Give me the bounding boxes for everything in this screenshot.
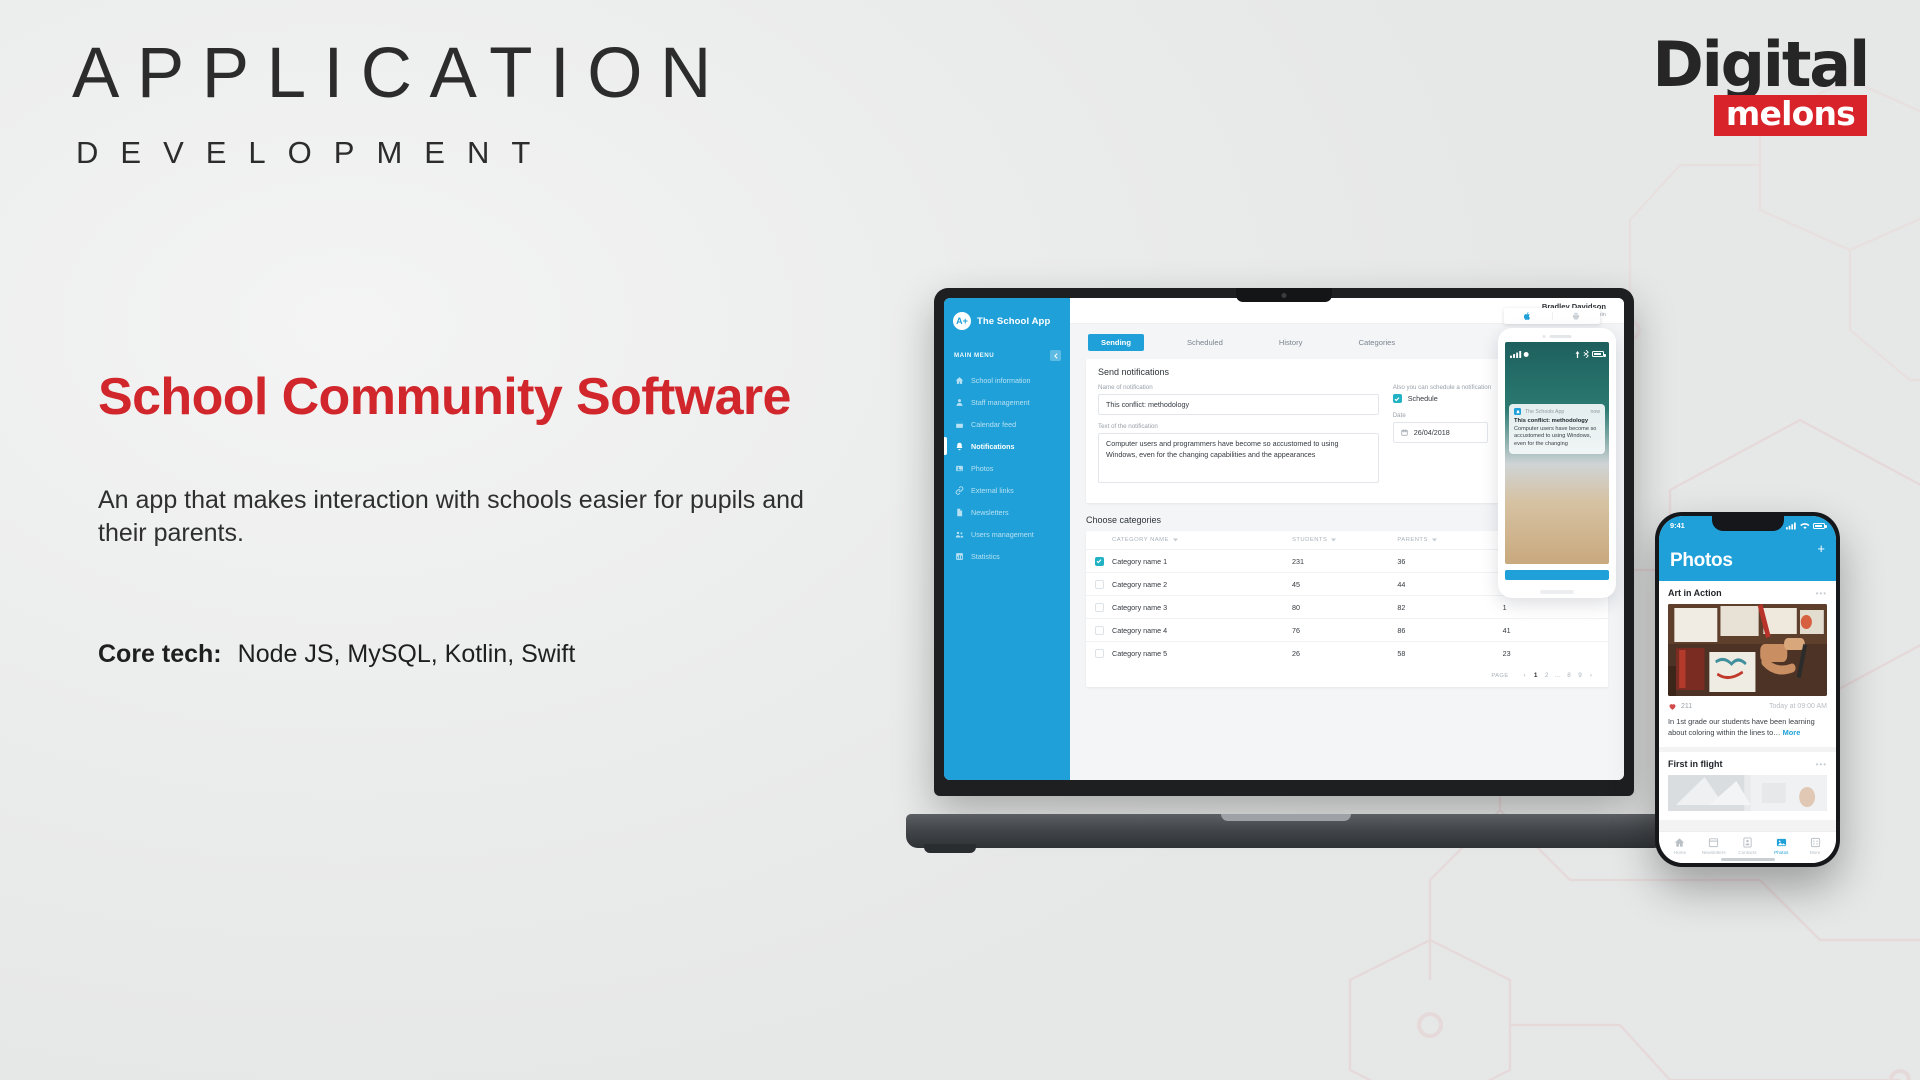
nav-item-contacts[interactable]: Contacts <box>1731 837 1765 855</box>
preview-notification-time: now <box>1590 409 1600 415</box>
column-label: CATEGORY NAME <box>1112 537 1169 543</box>
contact-icon <box>1742 837 1753 848</box>
like-count-value: 211 <box>1681 703 1692 710</box>
sidebar-item-statistics[interactable]: Statistics <box>944 545 1070 567</box>
sort-caret-icon <box>1173 538 1178 542</box>
date-input[interactable]: 26/04/2018 <box>1393 422 1489 443</box>
nav-label: Home <box>1674 850 1686 855</box>
cell-parents: 44 <box>1397 580 1502 589</box>
app-icon <box>1514 408 1521 415</box>
pagination-prev[interactable]: ‹ <box>1522 672 1528 679</box>
cell-category-name: Category name 4 <box>1112 626 1292 635</box>
sidebar-brand-label: The School App <box>977 316 1050 327</box>
post-menu-icon[interactable]: ••• <box>1816 589 1827 598</box>
preview-notification-card[interactable]: The Schools App now This conflict: metho… <box>1509 404 1605 454</box>
preview-status-bar <box>1505 342 1609 366</box>
text-of-notification-textarea[interactable]: Computer users and programmers have beco… <box>1098 433 1379 483</box>
row-checkbox[interactable] <box>1086 557 1112 566</box>
tab-categories[interactable]: Categories <box>1345 334 1408 351</box>
table-row[interactable]: Category name 5 26 58 23 <box>1086 641 1608 664</box>
column-label: STUDENTS <box>1292 537 1327 543</box>
core-tech-value: Node JS, MySQL, Kotlin, Swift <box>238 640 576 668</box>
date-label: Date <box>1393 412 1489 419</box>
date-value: 26/04/2018 <box>1414 428 1450 437</box>
table-row[interactable]: Category name 3 80 82 1 <box>1086 595 1608 618</box>
phone-screen: 9:41 + Photos Art in Action ••• <box>1659 516 1836 863</box>
name-of-notification-input[interactable]: This conflict: methodology <box>1098 394 1379 415</box>
core-tech-line: Core tech:Node JS, MySQL, Kotlin, Swift <box>98 640 858 669</box>
post-card[interactable]: Art in Action ••• <box>1659 581 1836 747</box>
sidebar-item-label: External links <box>971 486 1014 495</box>
cell-category-name: Category name 5 <box>1112 649 1292 658</box>
calendar-icon <box>1401 429 1408 436</box>
checkbox-unchecked-icon[interactable] <box>1095 603 1104 612</box>
cell-students: 80 <box>1292 603 1397 612</box>
laptop-notch <box>1236 288 1332 302</box>
cell-category-name: Category name 1 <box>1112 557 1292 566</box>
phone-notch <box>1712 516 1784 531</box>
cellular-icon <box>1786 522 1797 530</box>
cell-students: 45 <box>1292 580 1397 589</box>
pagination-page-2[interactable]: 2 <box>1544 672 1550 679</box>
sidebar-item-newsletters[interactable]: Newsletters <box>944 501 1070 523</box>
checkbox-checked-icon[interactable] <box>1095 557 1104 566</box>
pagination-page-1[interactable]: 1 <box>1533 672 1539 679</box>
sidebar-item-label: Calendar feed <box>971 420 1016 429</box>
bluetooth-icon <box>1583 350 1589 358</box>
post-header: Art in Action ••• <box>1668 588 1827 598</box>
heart-icon <box>1668 702 1677 711</box>
sidebar-item-school-information[interactable]: School information <box>944 369 1070 391</box>
checkbox-checked-icon[interactable] <box>1393 394 1402 403</box>
laptop-foot <box>924 844 976 853</box>
notification-preview: The Schools App now This conflict: metho… <box>1498 328 1616 598</box>
laptop-screen: A+ The School App MAIN MENU School infor… <box>944 298 1624 780</box>
row-checkbox[interactable] <box>1086 603 1112 612</box>
row-checkbox[interactable] <box>1086 626 1112 635</box>
cell-parents: 36 <box>1397 557 1502 566</box>
post-title: Art in Action <box>1668 588 1722 598</box>
bell-icon <box>955 442 964 451</box>
post-title: First in flight <box>1668 759 1723 769</box>
sidebar-item-staff-management[interactable]: Staff management <box>944 391 1070 413</box>
status-time: 9:41 <box>1670 521 1685 530</box>
calendar-icon <box>955 420 964 429</box>
laptop-base <box>906 814 1666 848</box>
project-copy: School Community Software An app that ma… <box>98 368 858 669</box>
sidebar-collapse-icon[interactable] <box>1050 350 1061 361</box>
photo-icon <box>955 464 964 473</box>
table-row[interactable]: Category name 4 76 86 41 <box>1086 618 1608 641</box>
cell-students: 231 <box>1292 557 1397 566</box>
preview-phone-screen: The Schools App now This conflict: metho… <box>1505 342 1609 564</box>
logo-word-melons: melons <box>1726 97 1855 132</box>
pagination-page-9[interactable]: 9 <box>1577 672 1583 679</box>
headline-secondary: DEVELOPMENT <box>76 135 972 171</box>
phone-frame: 9:41 + Photos Art in Action ••• <box>1655 512 1840 867</box>
preview-phone-body: The Schools App now This conflict: metho… <box>1498 328 1616 598</box>
post-header: First in flight ••• <box>1668 759 1827 769</box>
pagination: PAGE ‹ 1 2 … 8 9 › <box>1086 664 1608 687</box>
phone-mockup: 9:41 + Photos Art in Action ••• <box>1655 512 1840 867</box>
home-icon <box>1674 837 1685 848</box>
cell-students: 76 <box>1292 626 1397 635</box>
column-header-students[interactable]: STUDENTS <box>1292 537 1397 543</box>
post-image <box>1668 775 1827 811</box>
nav-item-more[interactable]: More <box>1798 837 1832 855</box>
checkbox-unchecked-icon[interactable] <box>1095 626 1104 635</box>
cell-category-name: Category name 2 <box>1112 580 1292 589</box>
preview-notification-header: The Schools App now <box>1514 408 1600 415</box>
phone-home-indicator <box>1540 590 1574 594</box>
nav-label: Newsletters <box>1702 850 1726 855</box>
home-icon <box>955 376 964 385</box>
art-in-action-photo <box>1668 604 1827 696</box>
post-menu-icon[interactable]: ••• <box>1816 760 1827 769</box>
battery-icon <box>1813 523 1825 529</box>
laptop-lid: A+ The School App MAIN MENU School infor… <box>934 288 1634 796</box>
pagination-next[interactable]: › <box>1588 672 1594 679</box>
name-of-notification-label: Name of notification <box>1098 384 1379 391</box>
document-icon <box>955 508 964 517</box>
preview-notification-body: Computer users have become so accustomed… <box>1514 426 1600 449</box>
pagination-ellipsis: … <box>1555 672 1561 679</box>
arrow-icon <box>1575 351 1580 358</box>
sidebar-item-calendar-feed[interactable]: Calendar feed <box>944 413 1070 435</box>
headline-primary: APPLICATION <box>72 38 972 109</box>
screen-title: Photos <box>1670 550 1825 572</box>
cell-staff: 1 <box>1503 603 1608 612</box>
news-icon <box>1708 837 1719 848</box>
project-description: An app that makes interaction with schoo… <box>98 484 828 550</box>
sidebar-item-label: Photos <box>971 464 993 473</box>
column-label: PARENTS <box>1397 537 1428 543</box>
photos-feed[interactable]: Art in Action ••• <box>1659 581 1836 831</box>
app-logo-icon: A+ <box>953 312 971 330</box>
chart-icon <box>955 552 964 561</box>
cell-staff: 23 <box>1503 649 1608 658</box>
phone-home-indicator <box>1721 858 1775 861</box>
tab-scheduled[interactable]: Scheduled <box>1174 334 1236 351</box>
platform-tab-apple[interactable] <box>1504 312 1552 320</box>
tab-sending[interactable]: Sending <box>1088 334 1144 351</box>
webcam-icon <box>1282 293 1287 298</box>
pagination-label: PAGE <box>1491 673 1508 679</box>
text-of-notification-label: Text of the notification <box>1098 423 1379 430</box>
page-title: APPLICATION DEVELOPMENT <box>72 38 972 171</box>
sidebar-item-notifications[interactable]: Notifications <box>944 435 1070 457</box>
wifi-icon <box>1800 522 1810 530</box>
users-icon <box>955 398 964 407</box>
nav-label: Contacts <box>1738 850 1756 855</box>
project-title: School Community Software <box>98 368 858 428</box>
cell-parents: 82 <box>1397 603 1502 612</box>
sidebar-item-label: Staff management <box>971 398 1030 407</box>
post-timestamp: Today at 09:00 AM <box>1769 703 1827 710</box>
post-card[interactable]: First in flight ••• <box>1659 752 1836 820</box>
battery-icon <box>1592 351 1604 357</box>
apple-icon <box>1524 312 1531 320</box>
sidebar-item-label: School information <box>971 376 1031 385</box>
core-tech-label: Core tech: <box>98 640 222 668</box>
sidebar-item-label: Newsletters <box>971 508 1009 517</box>
sidebar-item-label: Notifications <box>971 442 1015 451</box>
tab-history[interactable]: History <box>1266 334 1316 351</box>
row-checkbox[interactable] <box>1086 580 1112 589</box>
checkbox-unchecked-icon[interactable] <box>1095 580 1104 589</box>
preview-status-right <box>1575 350 1604 358</box>
sidebar-brand[interactable]: A+ The School App <box>944 306 1070 344</box>
date-field: Date 26/04/2018 <box>1393 412 1489 451</box>
cell-staff: 41 <box>1503 626 1608 635</box>
column-header-category-name[interactable]: CATEGORY NAME <box>1112 537 1292 543</box>
status-indicators <box>1786 522 1825 530</box>
link-icon <box>955 486 964 495</box>
post-more-link[interactable]: More <box>1783 728 1801 737</box>
platform-tab-android[interactable] <box>1552 312 1601 320</box>
column-header-parents[interactable]: PARENTS <box>1397 537 1502 543</box>
photo-icon <box>1776 837 1787 848</box>
sidebar-menu-label: MAIN MENU <box>954 352 994 359</box>
checkbox-unchecked-icon[interactable] <box>1095 649 1104 658</box>
laptop-mockup: A+ The School App MAIN MENU School infor… <box>906 288 1666 848</box>
like-count[interactable]: 211 <box>1668 702 1692 711</box>
nav-item-home[interactable]: Home <box>1663 837 1697 855</box>
preview-notification-title: This conflict: methodology <box>1514 418 1600 426</box>
cell-category-name: Category name 3 <box>1112 603 1292 612</box>
logo-melons-badge: melons <box>1714 95 1867 136</box>
sidebar-item-label: Statistics <box>971 552 1000 561</box>
pagination-page-8[interactable]: 8 <box>1566 672 1572 679</box>
first-in-flight-photo <box>1668 775 1827 811</box>
sidebar-menu-header: MAIN MENU <box>944 344 1070 369</box>
nav-label: Photos <box>1774 850 1788 855</box>
preview-notification-app-name: The Schools App <box>1525 409 1586 415</box>
sort-caret-icon <box>1432 538 1437 542</box>
sidebar-item-users-management[interactable]: Users management <box>944 523 1070 545</box>
row-checkbox[interactable] <box>1086 649 1112 658</box>
cell-parents: 58 <box>1397 649 1502 658</box>
cell-parents: 86 <box>1397 626 1502 635</box>
notification-fields: Name of notification This conflict: meth… <box>1098 384 1379 491</box>
signal-icon <box>1510 345 1530 363</box>
post-image <box>1668 604 1827 696</box>
nav-item-newsletters[interactable]: Newsletters <box>1697 837 1731 855</box>
people-icon <box>955 530 964 539</box>
android-icon <box>1572 312 1580 320</box>
add-photo-button[interactable]: + <box>1817 542 1825 555</box>
sort-caret-icon <box>1331 538 1336 542</box>
phone-earpiece <box>1543 335 1572 338</box>
app-sidebar: A+ The School App MAIN MENU School infor… <box>944 298 1070 780</box>
cell-students: 26 <box>1292 649 1397 658</box>
brand-logo: Digital melons <box>1652 36 1868 136</box>
post-text: In 1st grade our students have been lear… <box>1668 717 1827 738</box>
sidebar-item-external-links[interactable]: External links <box>944 479 1070 501</box>
nav-item-photos[interactable]: Photos <box>1764 837 1798 855</box>
preview-send-button[interactable] <box>1505 570 1609 580</box>
schedule-checkbox-label: Schedule <box>1408 394 1438 403</box>
post-meta: 211 Today at 09:00 AM <box>1668 702 1827 711</box>
nav-label: More <box>1810 850 1820 855</box>
logo-word-digital: Digital <box>1652 36 1868 93</box>
platform-toggle <box>1504 308 1600 324</box>
sidebar-item-photos[interactable]: Photos <box>944 457 1070 479</box>
grid-icon <box>1810 837 1821 848</box>
sidebar-item-label: Users management <box>971 530 1034 539</box>
